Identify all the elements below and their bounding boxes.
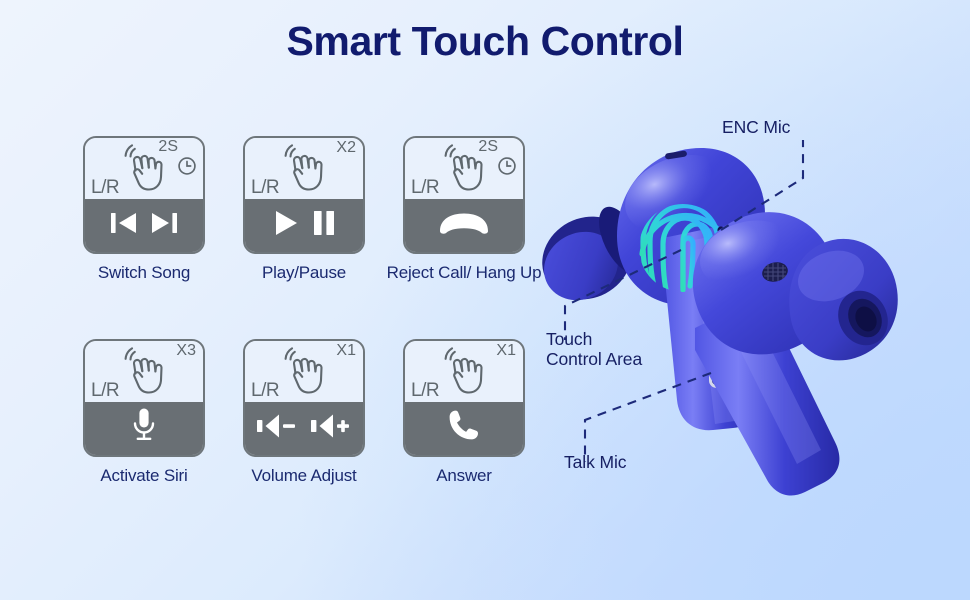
pause-icon (311, 208, 337, 243)
control-caption: Answer (436, 466, 492, 486)
gesture-card-top: L/R X1 (245, 341, 363, 402)
phone-handset-icon (448, 409, 480, 448)
hand-tap-icon (441, 347, 487, 402)
gesture-card-top: L/R X2 (245, 138, 363, 199)
hang-up-icon (437, 211, 491, 240)
gesture-card-top: L/R X1 (405, 341, 523, 402)
control-item-reject-call[interactable]: L/R 2S (384, 136, 544, 283)
gesture-card-actions (405, 402, 523, 455)
gesture-card-top: L/R 2S (405, 138, 523, 199)
control-row-2: L/R X3 (64, 339, 544, 486)
clock-icon (177, 156, 197, 181)
repeat-label: X2 (336, 139, 356, 157)
repeat-label: X1 (336, 342, 356, 360)
play-icon (271, 208, 301, 243)
right-earbud (692, 210, 898, 496)
annotation-enc-mic: ENC Mic (722, 117, 790, 137)
gesture-card-top: L/R X3 (85, 341, 203, 402)
annotation-talk-mic: Talk Mic (564, 452, 626, 472)
next-track-icon (149, 209, 179, 242)
gesture-card[interactable]: L/R X1 (243, 339, 365, 457)
gesture-card-actions (85, 402, 203, 455)
gesture-card[interactable]: L/R 2S (403, 136, 525, 254)
control-caption: Switch Song (98, 263, 190, 283)
control-item-answer[interactable]: L/R X1 (384, 339, 544, 486)
hand-tap-icon (121, 347, 167, 402)
volume-down-icon (255, 412, 299, 445)
repeat-label: X3 (176, 342, 196, 360)
gesture-card-actions (245, 402, 363, 455)
hand-tap-icon (121, 144, 167, 199)
side-label: L/R (251, 177, 279, 199)
control-gestures-grid: L/R 2S (64, 136, 544, 485)
hand-tap-icon (281, 347, 327, 402)
gesture-card-actions (405, 199, 523, 252)
gesture-card[interactable]: L/R 2S (83, 136, 205, 254)
right-earbud-ear-tip (789, 239, 897, 360)
control-item-play-pause[interactable]: L/R X2 (224, 136, 384, 283)
control-item-switch-song[interactable]: L/R 2S (64, 136, 224, 283)
side-label: L/R (91, 177, 119, 199)
hand-tap-icon (441, 144, 487, 199)
control-caption: Reject Call/ Hang Up (387, 263, 542, 283)
gesture-card[interactable]: L/R X3 (83, 339, 205, 457)
side-label: L/R (411, 177, 439, 199)
page-title: Smart Touch Control (0, 18, 970, 65)
gesture-card[interactable]: L/R X2 (243, 136, 365, 254)
hand-tap-icon (281, 144, 327, 199)
control-caption: Activate Siri (100, 466, 187, 486)
repeat-label: X1 (496, 342, 516, 360)
control-caption: Volume Adjust (251, 466, 356, 486)
gesture-card-top: L/R 2S (85, 138, 203, 199)
control-row-1: L/R 2S (64, 136, 544, 283)
side-label: L/R (411, 380, 439, 402)
previous-track-icon (109, 209, 139, 242)
gesture-card[interactable]: L/R X1 (403, 339, 525, 457)
clock-icon (497, 156, 517, 181)
side-label: L/R (251, 380, 279, 402)
annotation-touch-control-area: Touch Control Area (546, 329, 642, 370)
earbuds-illustration (525, 90, 970, 550)
gesture-card-actions (85, 199, 203, 252)
control-item-activate-siri[interactable]: L/R X3 (64, 339, 224, 486)
side-label: L/R (91, 380, 119, 402)
volume-up-icon (309, 412, 353, 445)
control-item-volume-adjust[interactable]: L/R X1 (224, 339, 384, 486)
control-caption: Play/Pause (262, 263, 346, 283)
microphone-icon (131, 407, 157, 450)
gesture-card-actions (245, 199, 363, 252)
